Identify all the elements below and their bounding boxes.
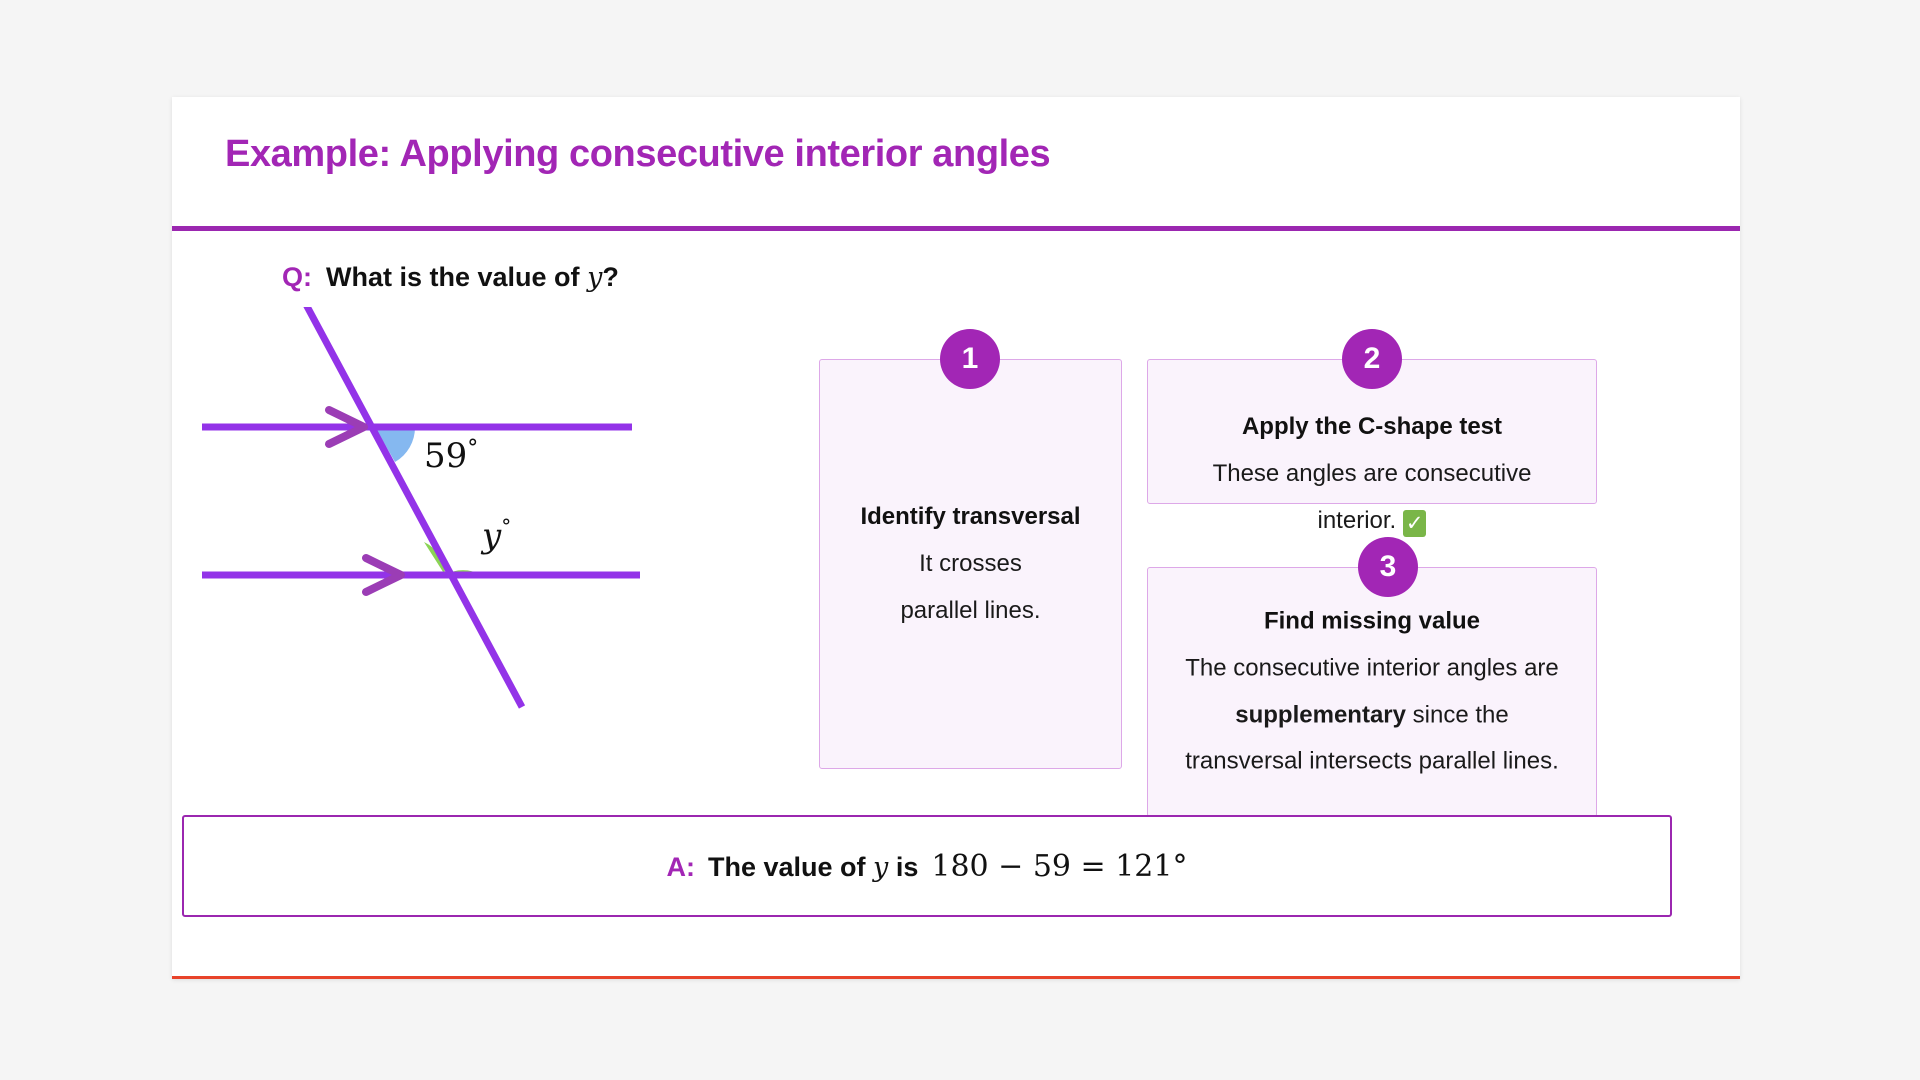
answer-variable: y — [873, 852, 888, 883]
step-badge-3: 3 — [1358, 537, 1418, 597]
answer-tag: A: — [667, 852, 696, 883]
answer-box: A: The value of y is 180 − 59 = 121° — [182, 815, 1672, 917]
step-1-body-line1: It crosses — [836, 541, 1105, 588]
diagram-svg: 59° y° — [192, 307, 812, 767]
step-card-1[interactable]: Identify transversal It crosses parallel… — [819, 359, 1122, 769]
question-text-after: ? — [602, 262, 619, 292]
step-2-body-line1: These angles are consecutive — [1164, 451, 1580, 498]
question-text-before: What is the value of — [326, 262, 580, 292]
step-3-body-line1: The consecutive interior angles are — [1164, 645, 1580, 692]
angle-label-59: 59° — [424, 436, 478, 476]
question-row: Q: What is the value of y? — [282, 262, 619, 293]
step-3-body-line2-tail: since the — [1406, 701, 1509, 728]
answer-text-mid: is — [896, 852, 919, 882]
step-badge-1: 1 — [940, 329, 1000, 389]
step-2-body-line2: interior. ✓ — [1164, 498, 1580, 545]
slide-card: Example: Applying consecutive interior a… — [172, 97, 1740, 979]
step-3-heading: Find missing value — [1164, 598, 1580, 645]
step-card-3[interactable]: Find missing value The consecutive inter… — [1147, 567, 1597, 817]
steps-container: Identify transversal It crosses parallel… — [772, 247, 1692, 767]
question-text: What is the value of y? — [326, 262, 619, 293]
step-2-body-line2-text: interior. — [1318, 507, 1397, 534]
page-title: Example: Applying consecutive interior a… — [225, 133, 1050, 176]
answer-expression: 180 − 59 = 121° — [931, 849, 1187, 884]
step-2-heading: Apply the C-shape test — [1164, 404, 1580, 451]
answer-text-before: The value of — [708, 852, 866, 882]
step-3-body-line2: supplementary since the — [1164, 692, 1580, 739]
step-3-body-line3: transversal intersects parallel lines. — [1164, 739, 1580, 786]
answer-line: A: The value of y is 180 − 59 = 121° — [667, 849, 1188, 884]
angle-label-y: y° — [480, 514, 511, 556]
step-badge-2: 2 — [1342, 329, 1402, 389]
step-1-heading: Identify transversal — [836, 494, 1105, 541]
step-1-body-line2: parallel lines. — [836, 587, 1105, 634]
step-1-content: Identify transversal It crosses parallel… — [820, 494, 1121, 634]
check-icon: ✓ — [1403, 510, 1427, 537]
geometry-diagram: 59° y° — [192, 307, 812, 767]
slide-bottom-rule — [172, 976, 1740, 979]
transversal-line — [302, 307, 522, 707]
header-divider — [172, 226, 1740, 231]
answer-text: The value of y is — [708, 852, 918, 883]
step-3-content: Find missing value The consecutive inter… — [1148, 598, 1596, 785]
question-variable: y — [587, 262, 602, 293]
step-3-body-bold: supplementary — [1235, 701, 1406, 728]
question-tag: Q: — [282, 262, 312, 293]
